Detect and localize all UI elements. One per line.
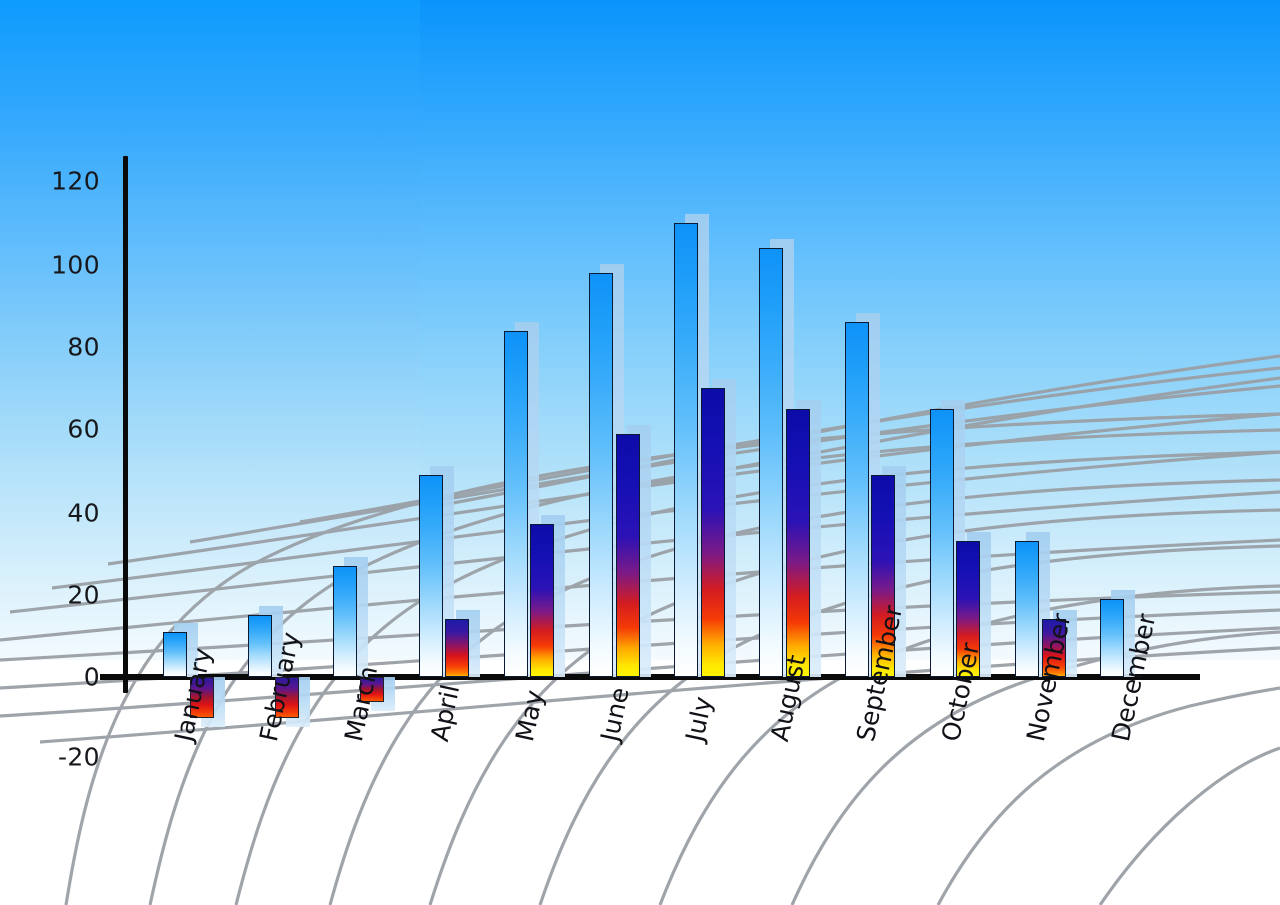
x-label-march: March (339, 663, 383, 744)
x-label-june: June (595, 685, 635, 744)
x-label-may: May (510, 687, 549, 744)
x-axis-labels: JanuaryFebruaryMarchAprilMayJuneJulyAugu… (0, 0, 1280, 905)
x-label-november: November (1021, 611, 1076, 744)
x-label-october: October (936, 640, 985, 744)
x-label-september: September (851, 603, 908, 744)
x-label-august: August (765, 652, 812, 744)
x-label-february: February (254, 630, 305, 744)
x-label-april: April (425, 682, 465, 744)
x-label-july: July (680, 694, 718, 744)
chart-canvas: 120 100 80 60 40 20 0 -20 JanuaryFebruar… (0, 0, 1280, 905)
x-label-january: January (169, 645, 217, 744)
x-label-december: December (1106, 611, 1161, 744)
